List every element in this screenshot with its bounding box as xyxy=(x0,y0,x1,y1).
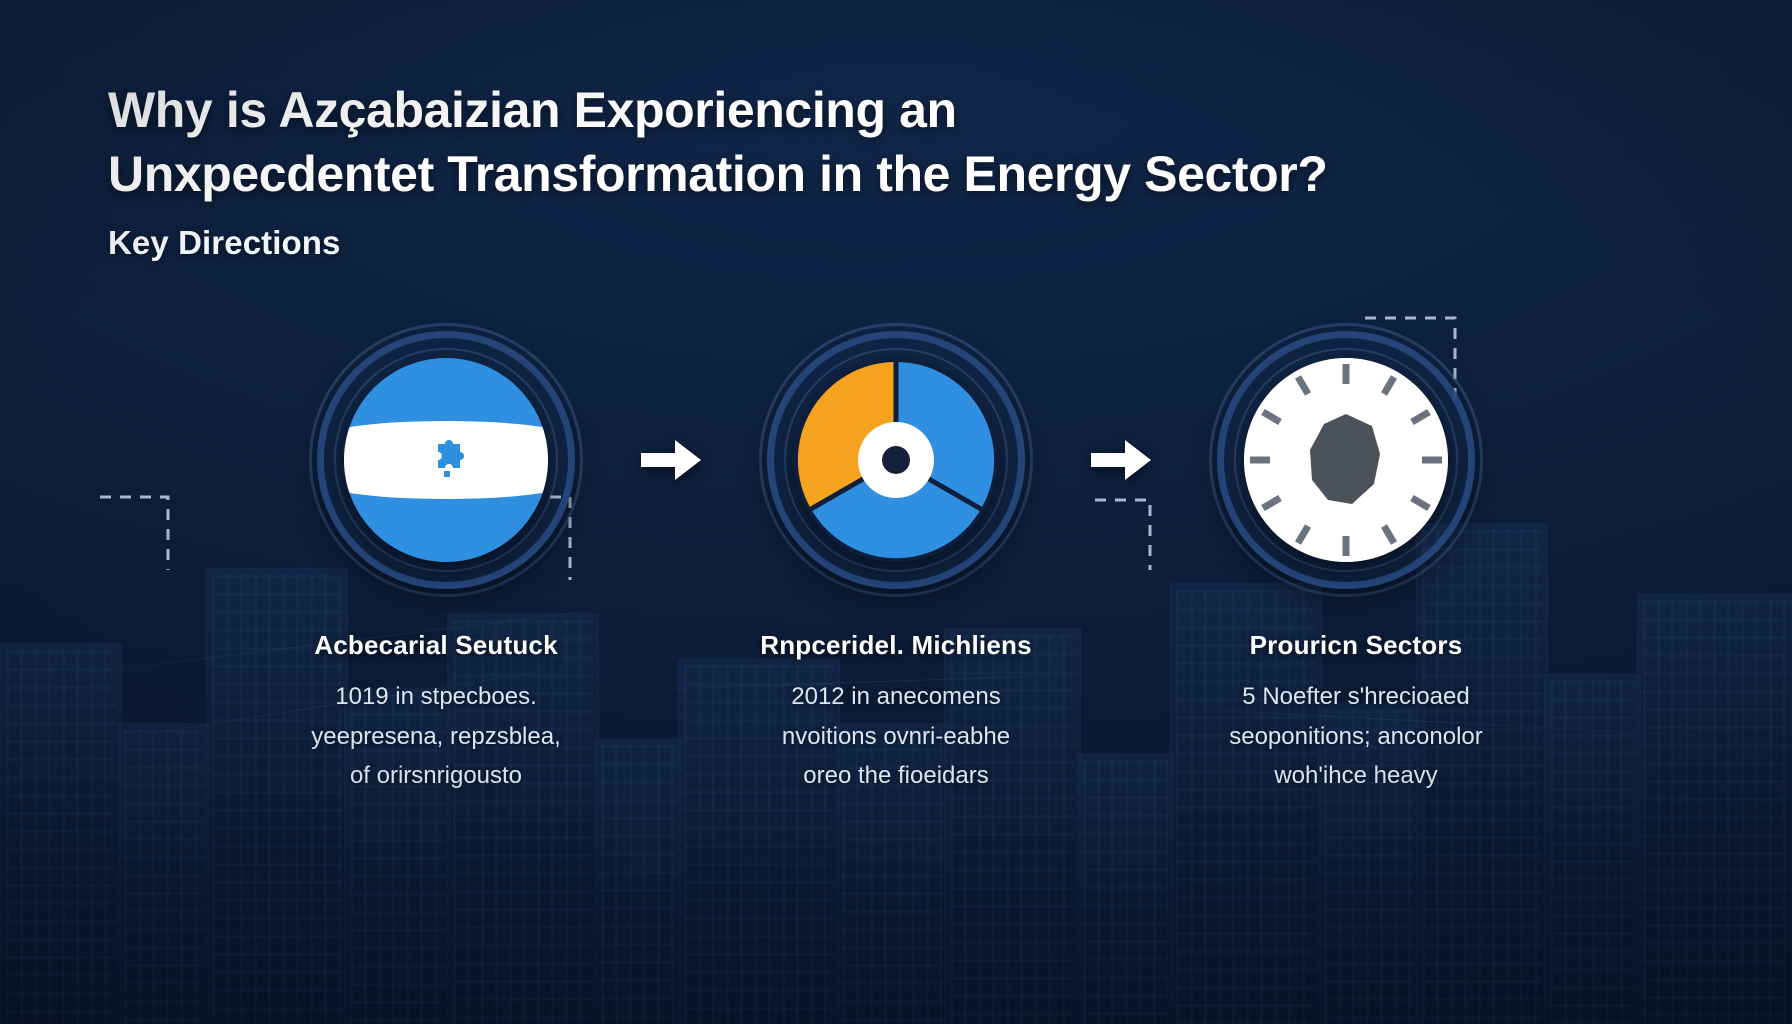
caption-1-body: 1019 in stpecboes. yeepresena, repzsblea… xyxy=(229,677,643,796)
caption-3-line-3: woh'ihce heavy xyxy=(1149,756,1563,796)
caption-2-title: Rnpceridel. Michliens xyxy=(689,630,1103,661)
captions-row: Acbecarial Seutuck 1019 in stpecboes. ye… xyxy=(0,630,1792,796)
step-3[interactable] xyxy=(1196,310,1496,610)
caption-1-line-2: yeepresena, repzsblea, xyxy=(229,717,643,757)
caption-1-title: Acbecarial Seutuck xyxy=(229,630,643,661)
caption-3-line-2: seoponitions; anconolor xyxy=(1149,717,1563,757)
caption-1-line-1: 1019 in stpecboes. xyxy=(229,677,643,717)
caption-3-line-1: 5 Noefter s'hrecioaed xyxy=(1149,677,1563,717)
caption-1-line-3: of orirsnrigousto xyxy=(229,756,643,796)
pie-chart-svg xyxy=(794,358,998,562)
pie-chart-icon xyxy=(794,358,998,562)
page-subtitle: Key Directions xyxy=(108,224,1488,262)
page-title: Why is Azçabaizian Exporiencing an Unxpe… xyxy=(108,78,1488,206)
arrow-right-icon xyxy=(639,435,703,485)
caption-1: Acbecarial Seutuck 1019 in stpecboes. ye… xyxy=(211,630,661,796)
caption-3-title: Prouricn Sectors xyxy=(1149,630,1563,661)
caption-3: Prouricn Sectors 5 Noefter s'hrecioaed s… xyxy=(1131,630,1581,796)
caption-2-body: 2012 in anecomens nvoitions ovnri-eabhe … xyxy=(689,677,1103,796)
puzzle-piece-icon xyxy=(424,437,468,483)
title-line-2: Unxpecdentet Transformation in the Energ… xyxy=(108,142,1488,206)
caption-3-body: 5 Noefter s'hrecioaed seoponitions; anco… xyxy=(1149,677,1563,796)
header: Why is Azçabaizian Exporiencing an Unxpe… xyxy=(108,78,1488,262)
caption-2-line-1: 2012 in anecomens xyxy=(689,677,1103,717)
caption-2: Rnpceridel. Michliens 2012 in anecomens … xyxy=(671,630,1121,796)
steps-row xyxy=(0,300,1792,620)
title-line-1: Why is Azçabaizian Exporiencing an xyxy=(108,82,957,138)
step-2[interactable] xyxy=(746,310,1046,610)
infographic-canvas: Why is Azçabaizian Exporiencing an Unxpe… xyxy=(0,0,1792,1024)
arrow-right-icon xyxy=(1089,435,1153,485)
gauge-gear-svg xyxy=(1244,358,1448,562)
flag-puzzle-icon xyxy=(344,358,548,562)
caption-2-line-3: oreo the fioeidars xyxy=(689,756,1103,796)
gauge-gear-icon xyxy=(1244,358,1448,562)
caption-2-line-2: nvoitions ovnri-eabhe xyxy=(689,717,1103,757)
pie-center-dot xyxy=(882,446,910,474)
arrow-2-3 xyxy=(1046,435,1196,485)
arrow-1-2 xyxy=(596,435,746,485)
step-1[interactable] xyxy=(296,310,596,610)
